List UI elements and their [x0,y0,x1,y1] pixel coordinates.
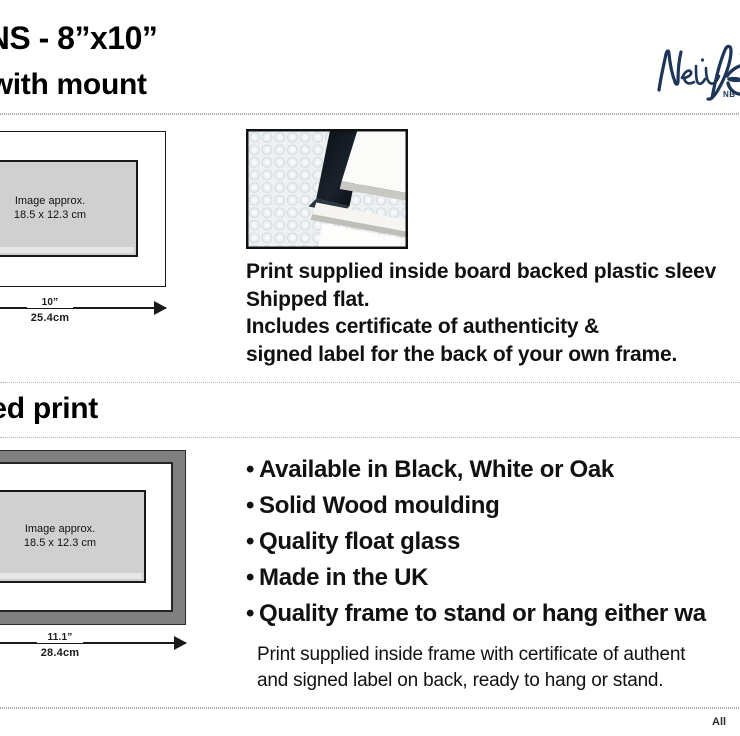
divider-section2-top [0,382,740,383]
frame-image-area: Image approx. 18.5 x 12.3 cm [0,490,146,583]
logo-initials: NB [723,90,736,99]
mount-diagram: Image approx. 18.5 x 12.3 cm [0,131,166,287]
mount-description-line-4: signed label for the back of your own fr… [246,341,740,369]
bullet-icon: • [246,524,259,560]
mount-image-label-line1: Image approx. [0,194,136,209]
list-item: •Available in Black, White or Oak [246,452,740,488]
mount-dimension-inches: 10” [27,297,73,308]
list-item-label: Solid Wood moulding [259,492,499,519]
bullet-icon: • [246,560,259,596]
divider-section2-bottom [0,437,740,438]
divider-header [0,113,740,115]
dimension-line [0,307,166,309]
list-item-label: Quality frame to stand or hang either wa [259,600,706,627]
framed-print-feature-list: •Available in Black, White or Oak •Solid… [246,452,740,632]
section-framed-title: med print [0,392,98,426]
list-item: •Quality float glass [246,524,740,560]
frame-mount-area: Image approx. 18.5 x 12.3 cm [0,462,173,612]
mount-image-label-line2: 18.5 x 12.3 cm [0,209,136,224]
frame-image-label-line2: 18.5 x 12.3 cm [0,537,144,552]
list-item-label: Available in Black, White or Oak [259,456,614,483]
framed-description-line-1: Print supplied inside frame with certifi… [257,642,740,668]
frame-dimension-inches: 11.1” [37,632,83,643]
bullet-icon: • [246,488,259,524]
framed-print-diagram: Image approx. 18.5 x 12.3 cm [0,450,186,625]
mount-width-dimension: 10” 25.4cm [0,297,166,329]
footer-note: All [712,716,726,728]
framed-description-line-2: and signed label on back, ready to hang … [257,668,740,694]
frame-image-label: Image approx. 18.5 x 12.3 cm [0,522,144,552]
page-title: IONS - 8”x10” [0,20,157,57]
mount-description: Print supplied inside board backed plast… [246,258,740,368]
frame-dimension-cm: 28.4cm [0,647,186,659]
packaging-photo [246,129,408,249]
mount-image-label: Image approx. 18.5 x 12.3 cm [0,194,136,224]
bullet-icon: • [246,596,259,632]
bullet-icon: • [246,452,259,488]
dimension-line [0,642,186,644]
page-subtitle: t with mount [0,68,147,102]
list-item-label: Quality float glass [259,528,460,555]
list-item-label: Made in the UK [259,564,428,591]
mount-description-line-1: Print supplied inside board backed plast… [246,258,740,286]
divider-footer [0,707,740,709]
framed-print-description: Print supplied inside frame with certifi… [257,642,740,694]
mount-dimension-cm: 25.4cm [0,312,166,324]
mount-description-line-3: Includes certificate of authenticity & [246,313,740,341]
list-item: •Quality frame to stand or hang either w… [246,596,740,632]
list-item: •Solid Wood moulding [246,488,740,524]
dimensions-info-sheet: IONS - 8”x10” t with mount NB Image appr… [0,0,740,736]
mount-image-area: Image approx. 18.5 x 12.3 cm [0,160,138,257]
list-item: •Made in the UK [246,560,740,596]
frame-width-dimension: 11.1” 28.4cm [0,632,186,664]
mount-description-line-2: Shipped flat. [246,286,740,314]
frame-image-label-line1: Image approx. [0,522,144,537]
brand-logo: NB [655,38,740,110]
